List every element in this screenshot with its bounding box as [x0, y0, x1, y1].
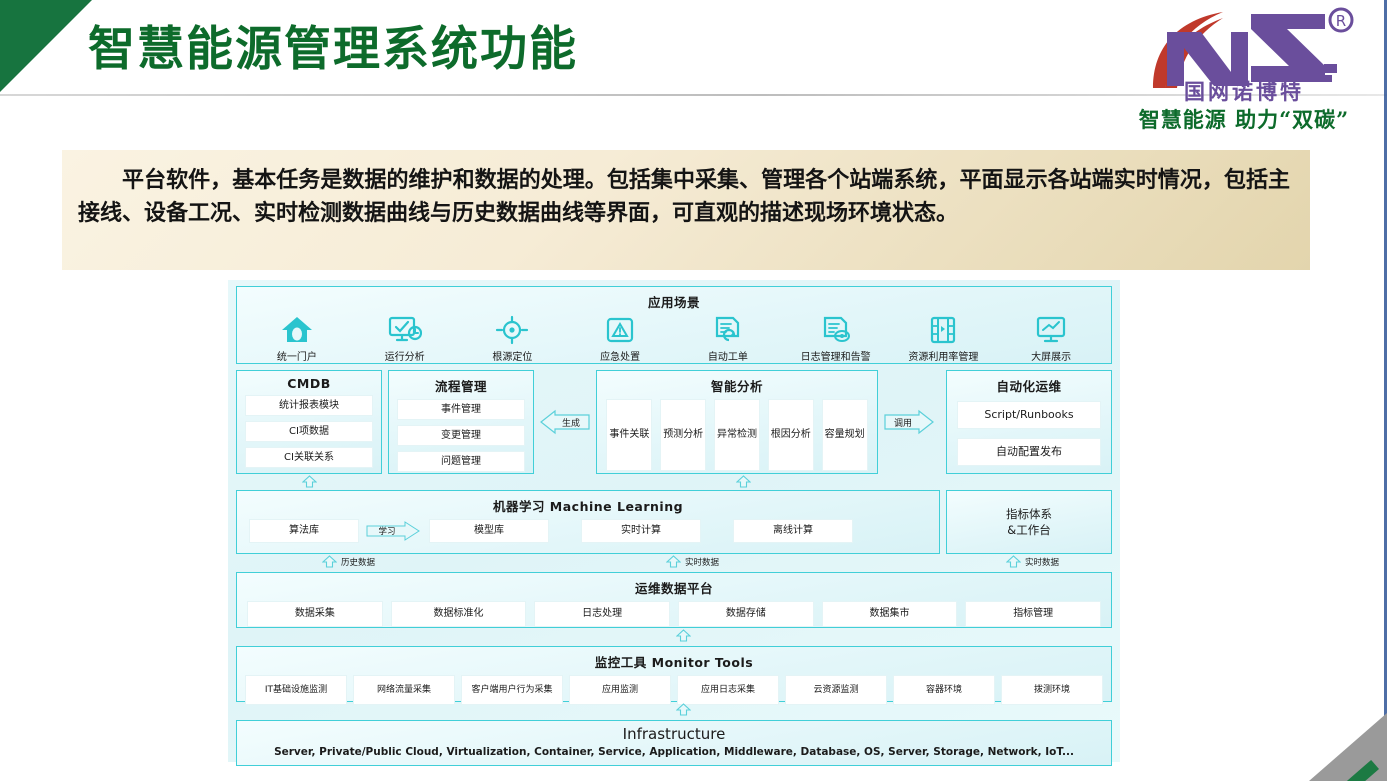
ml-item-algorithm[interactable]: 算法库 [249, 519, 359, 543]
panel-intelligent-analysis: 智能分析 事件关联 预测分析 异常检测 根因分析 容量规划 [596, 370, 878, 474]
arrow-left-generate-icon: 生成 [537, 409, 593, 435]
home-icon [280, 315, 314, 345]
connector-label: 实时数据 [1025, 556, 1059, 568]
scenario-label: 自动工单 [708, 348, 748, 363]
data-platform-item[interactable]: 指标管理 [965, 601, 1101, 627]
warning-triangle-icon [603, 315, 637, 345]
monitor-tool-item[interactable]: 拨测环境 [1001, 675, 1103, 705]
monitor-tools-title: 监控工具 Monitor Tools [237, 647, 1111, 671]
automation-item[interactable]: Script/Runbooks [957, 401, 1101, 429]
scenario-label: 统一门户 [277, 348, 317, 363]
arrow-up-icon [676, 703, 691, 716]
connector-monitor-up [676, 629, 691, 642]
monitor-tool-item[interactable]: IT基础设施监测 [245, 675, 347, 705]
infrastructure-title: Infrastructure [237, 721, 1111, 743]
connector-row-infra [236, 702, 1112, 718]
process-title: 流程管理 [389, 371, 533, 395]
generate-arrow-wrap: 生成 [534, 370, 596, 474]
connector-history-data: 历史数据 [322, 555, 375, 568]
scenario-item-resource-usage[interactable]: 资源利用率管理 [894, 315, 992, 363]
panel-cmdb: CMDB 统计报表模块 CI项数据 CI关联关系 [236, 370, 382, 474]
learn-arrow-label: 学习 [378, 526, 395, 537]
crosshair-target-icon [495, 315, 529, 345]
arrow-up-icon [676, 629, 691, 642]
intelligent-title: 智能分析 [597, 371, 877, 395]
scenario-label: 日志管理和告警 [801, 348, 871, 363]
automation-items: Script/Runbooks 自动配置发布 [947, 395, 1111, 466]
monitor-tool-item[interactable]: 云资源监测 [785, 675, 887, 705]
scenario-item-run-analysis[interactable]: 运行分析 [356, 315, 454, 363]
arrow-up-icon [666, 555, 681, 568]
scenario-item-emergency[interactable]: 应急处置 [571, 315, 669, 363]
connector-cmdb-up [302, 475, 317, 488]
intelligent-item[interactable]: 容量规划 [822, 399, 868, 471]
kpi-line2: &工作台 [1006, 522, 1052, 538]
corner-decoration-bottom-right [1290, 700, 1387, 781]
connector-row-data: 历史数据 实时数据 实时数据 [236, 554, 1112, 570]
scenario-label: 大屏展示 [1031, 348, 1071, 363]
page-title: 智慧能源管理系统功能 [88, 10, 578, 79]
intelligent-item[interactable]: 事件关联 [606, 399, 652, 471]
process-item[interactable]: 问题管理 [397, 451, 525, 472]
call-arrow-label: 调用 [894, 418, 912, 429]
arrow-up-icon [736, 475, 751, 488]
description-box: 平台软件，基本任务是数据的维护和数据的处理。包括集中采集、管理各个站端系统，平面… [62, 150, 1310, 270]
arrow-up-icon [302, 475, 317, 488]
connector-row-monitor [236, 628, 1112, 644]
process-items: 事件管理 变更管理 问题管理 [389, 395, 533, 472]
panel-machine-learning: 机器学习 Machine Learning 算法库 学习 模型库 实时计算 离线… [236, 490, 940, 554]
ml-item-model[interactable]: 模型库 [429, 519, 549, 543]
connector-label: 实时数据 [685, 556, 719, 568]
logo-tagline: 智慧能源 助力“双碳” [1119, 104, 1369, 134]
monitor-tool-item[interactable]: 网络流量采集 [353, 675, 455, 705]
data-platform-item[interactable]: 数据采集 [247, 601, 383, 627]
arrow-right-call-icon: 调用 [881, 409, 937, 435]
cmdb-items: 统计报表模块 CI项数据 CI关联关系 [237, 391, 381, 468]
infrastructure-subtitle: Server, Private/Public Cloud, Virtualiza… [237, 743, 1111, 758]
monitor-tools-items: IT基础设施监测 网络流量采集 客户端用户行为采集 应用监测 应用日志采集 云资… [237, 671, 1111, 705]
intelligent-item[interactable]: 根因分析 [768, 399, 814, 471]
scenario-item-big-screen[interactable]: 大屏展示 [1002, 315, 1100, 363]
connector-infra-up [676, 703, 691, 716]
monitor-tool-item[interactable]: 容器环境 [893, 675, 995, 705]
corner-decoration-top-left [0, 0, 92, 92]
generate-arrow-label: 生成 [562, 417, 580, 429]
panel-kpi-workbench: 指标体系 &工作台 [946, 490, 1112, 554]
ml-item-offline[interactable]: 离线计算 [733, 519, 853, 543]
scenario-label: 运行分析 [385, 348, 425, 363]
intelligent-items: 事件关联 预测分析 异常检测 根因分析 容量规划 [597, 395, 877, 471]
architecture-diagram: 应用场景 统一门户 运行分析 [228, 280, 1120, 762]
server-rack-icon [926, 315, 960, 345]
panel-data-platform: 运维数据平台 数据采集 数据标准化 日志处理 数据存储 数据集市 指标管理 [236, 572, 1112, 628]
connector-realtime-data-2: 实时数据 [1006, 555, 1059, 568]
call-arrow-wrap: 调用 [878, 370, 940, 474]
automation-item[interactable]: 自动配置发布 [957, 438, 1101, 466]
arrow-right-learn-icon: 学习 [365, 521, 423, 541]
panel-process-management: 流程管理 事件管理 变更管理 问题管理 [388, 370, 534, 474]
logo-company-name: 国网诺博特 [1119, 76, 1369, 106]
screen-chart-icon [1034, 315, 1068, 345]
monitor-tool-item[interactable]: 客户端用户行为采集 [461, 675, 563, 705]
panel-monitor-tools: 监控工具 Monitor Tools IT基础设施监测 网络流量采集 客户端用户… [236, 646, 1112, 702]
data-platform-item[interactable]: 数据标准化 [391, 601, 527, 627]
scenario-item-log-alarm[interactable]: 日志管理和告警 [787, 315, 885, 363]
scenario-label: 根源定位 [492, 348, 532, 363]
svg-text:R: R [1336, 12, 1346, 30]
data-platform-items: 数据采集 数据标准化 日志处理 数据存储 数据集市 指标管理 [237, 597, 1111, 627]
arrow-up-icon [322, 555, 337, 568]
connector-ai-up [736, 475, 751, 488]
connector-realtime-data-1: 实时数据 [666, 555, 719, 568]
description-text: 平台软件，基本任务是数据的维护和数据的处理。包括集中采集、管理各个站端系统，平面… [78, 164, 1290, 230]
cmdb-item[interactable]: CI项数据 [245, 421, 373, 442]
monitor-tool-item[interactable]: 应用日志采集 [677, 675, 779, 705]
intelligent-item[interactable]: 异常检测 [714, 399, 760, 471]
cmdb-item[interactable]: 统计报表模块 [245, 395, 373, 416]
ml-title: 机器学习 Machine Learning [237, 491, 939, 515]
data-platform-item[interactable]: 数据集市 [822, 601, 958, 627]
connector-label: 历史数据 [341, 556, 375, 568]
kpi-line1: 指标体系 [1006, 506, 1052, 522]
intelligent-item[interactable]: 预测分析 [660, 399, 706, 471]
data-platform-item[interactable]: 数据存储 [678, 601, 814, 627]
scenario-label: 应急处置 [600, 348, 640, 363]
panel-infrastructure: Infrastructure Server, Private/Public Cl… [236, 720, 1112, 766]
scenarios-icon-row: 统一门户 运行分析 根源定位 [237, 311, 1111, 363]
scenario-item-portal[interactable]: 统一门户 [248, 315, 346, 363]
data-platform-title: 运维数据平台 [237, 573, 1111, 597]
ml-items: 算法库 学习 模型库 实时计算 离线计算 [237, 515, 939, 543]
scenario-item-auto-ticket[interactable]: 自动工单 [679, 315, 777, 363]
process-item[interactable]: 事件管理 [397, 399, 525, 420]
data-platform-item[interactable]: 日志处理 [534, 601, 670, 627]
ml-item-realtime[interactable]: 实时计算 [581, 519, 701, 543]
monitor-tool-item[interactable]: 应用监测 [569, 675, 671, 705]
diagram-row-core: CMDB 统计报表模块 CI项数据 CI关联关系 流程管理 事件管理 变更管理 … [236, 370, 1112, 474]
arrow-up-icon [1006, 555, 1021, 568]
cmdb-title: CMDB [237, 371, 381, 391]
process-item[interactable]: 变更管理 [397, 425, 525, 446]
panel-application-scenarios: 应用场景 统一门户 运行分析 [236, 286, 1112, 364]
scenario-label: 资源利用率管理 [908, 348, 978, 363]
automation-title: 自动化运维 [947, 371, 1111, 395]
document-refresh-icon [711, 315, 745, 345]
cmdb-item[interactable]: CI关联关系 [245, 447, 373, 468]
scenario-item-root-cause[interactable]: 根源定位 [463, 315, 561, 363]
diagram-row-ml: 机器学习 Machine Learning 算法库 学习 模型库 实时计算 离线… [236, 490, 1112, 554]
monitor-check-icon [388, 315, 422, 345]
connector-row-upper [236, 474, 1112, 490]
panel-automation: 自动化运维 Script/Runbooks 自动配置发布 [946, 370, 1112, 474]
company-logo: R 国网诺博特 智慧能源 助力“双碳” [1119, 4, 1369, 134]
scenarios-title: 应用场景 [237, 287, 1111, 311]
document-eye-icon [819, 315, 853, 345]
